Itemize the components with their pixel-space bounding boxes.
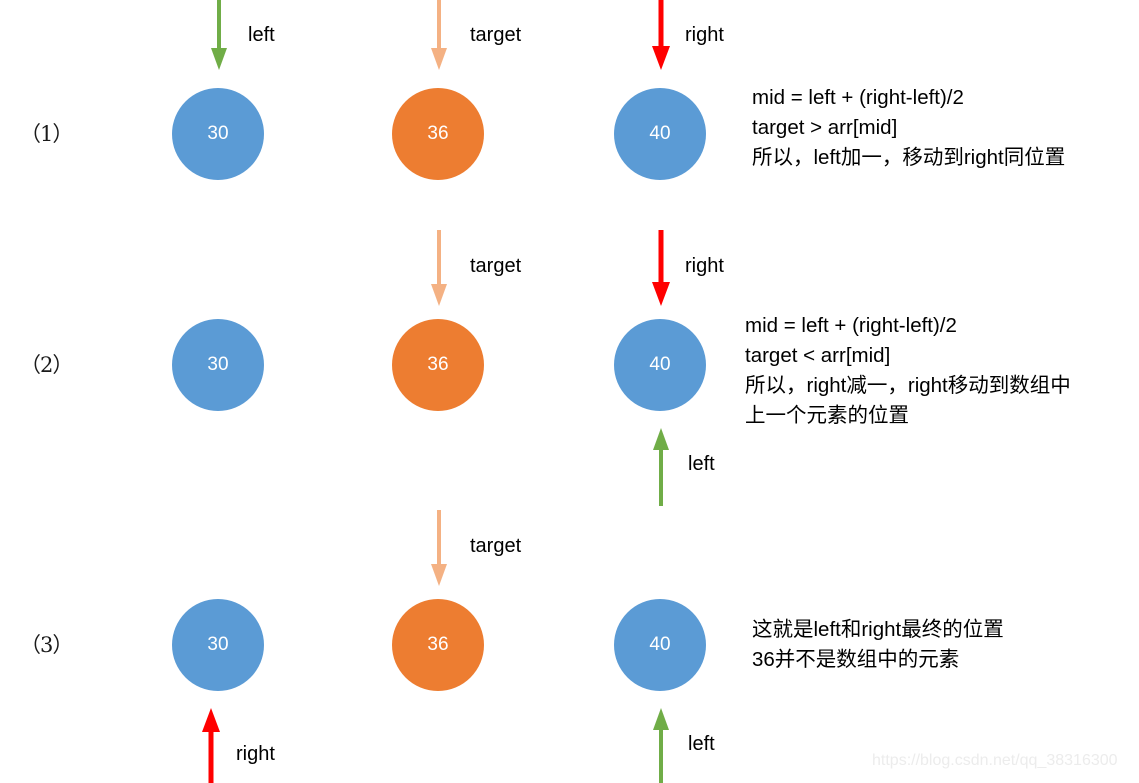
arrow-left-row1 [210,0,228,72]
note-row1-line1: mid = left + (right-left)/2 [752,83,1065,113]
node-36-row1: 36 [392,88,484,180]
node-30-row1: 30 [172,88,264,180]
node-30-row2: 30 [172,319,264,411]
node-value: 30 [207,123,228,145]
node-value: 40 [649,634,670,656]
arrow-label-right-row1: right [685,24,724,47]
arrow-label-left-row2: left [688,453,715,476]
node-36-row2: 36 [392,319,484,411]
note-row1-line2: target > arr[mid] [752,113,1065,143]
note-row3-line2: 36并不是数组中的元素 [752,645,1004,675]
node-value: 36 [427,634,448,656]
arrow-left-row2 [652,428,670,506]
arrow-label-right-row2: right [685,255,724,278]
note-row2-line1: mid = left + (right-left)/2 [745,311,1071,341]
note-row1: mid = left + (right-left)/2 target > arr… [752,83,1065,173]
row-label-2: （2） [20,349,72,379]
node-30-row3: 30 [172,599,264,691]
arrow-target-row1 [430,0,448,72]
node-value: 36 [427,123,448,145]
arrow-label-target-row1: target [470,24,521,47]
node-40-row2: 40 [614,319,706,411]
note-row1-line3: 所以，left加一，移动到right同位置 [752,143,1065,173]
arrow-label-left-row1: left [248,24,275,47]
node-36-row3: 36 [392,599,484,691]
node-value: 36 [427,354,448,376]
arrow-target-row3 [430,510,448,588]
node-value: 40 [649,354,670,376]
diagram-canvas: （1） left target right 30 36 40 mid = lef… [0,0,1139,783]
arrow-left-row3 [652,708,670,783]
arrow-right-row1 [652,0,670,72]
node-value: 30 [207,634,228,656]
note-row2-line2: target < arr[mid] [745,341,1071,371]
arrow-right-row3 [202,708,220,783]
note-row3: 这就是left和right最终的位置 36并不是数组中的元素 [752,615,1004,675]
row-label-3: （3） [20,629,72,659]
node-40-row1: 40 [614,88,706,180]
note-row2-line4: 上一个元素的位置 [745,401,1071,431]
arrow-target-row2 [430,230,448,308]
node-value: 40 [649,123,670,145]
watermark: https://blog.csdn.net/qq_38316300 [872,752,1118,770]
note-row3-line1: 这就是left和right最终的位置 [752,615,1004,645]
arrow-label-target-row2: target [470,255,521,278]
arrow-label-right-row3: right [236,743,275,766]
node-40-row3: 40 [614,599,706,691]
note-row2-line3: 所以，right减一，right移动到数组中 [745,371,1071,401]
arrow-label-target-row3: target [470,535,521,558]
arrow-label-left-row3: left [688,733,715,756]
row-label-1: （1） [20,118,72,148]
note-row2: mid = left + (right-left)/2 target < arr… [745,311,1071,431]
arrow-right-row2 [652,230,670,308]
node-value: 30 [207,354,228,376]
